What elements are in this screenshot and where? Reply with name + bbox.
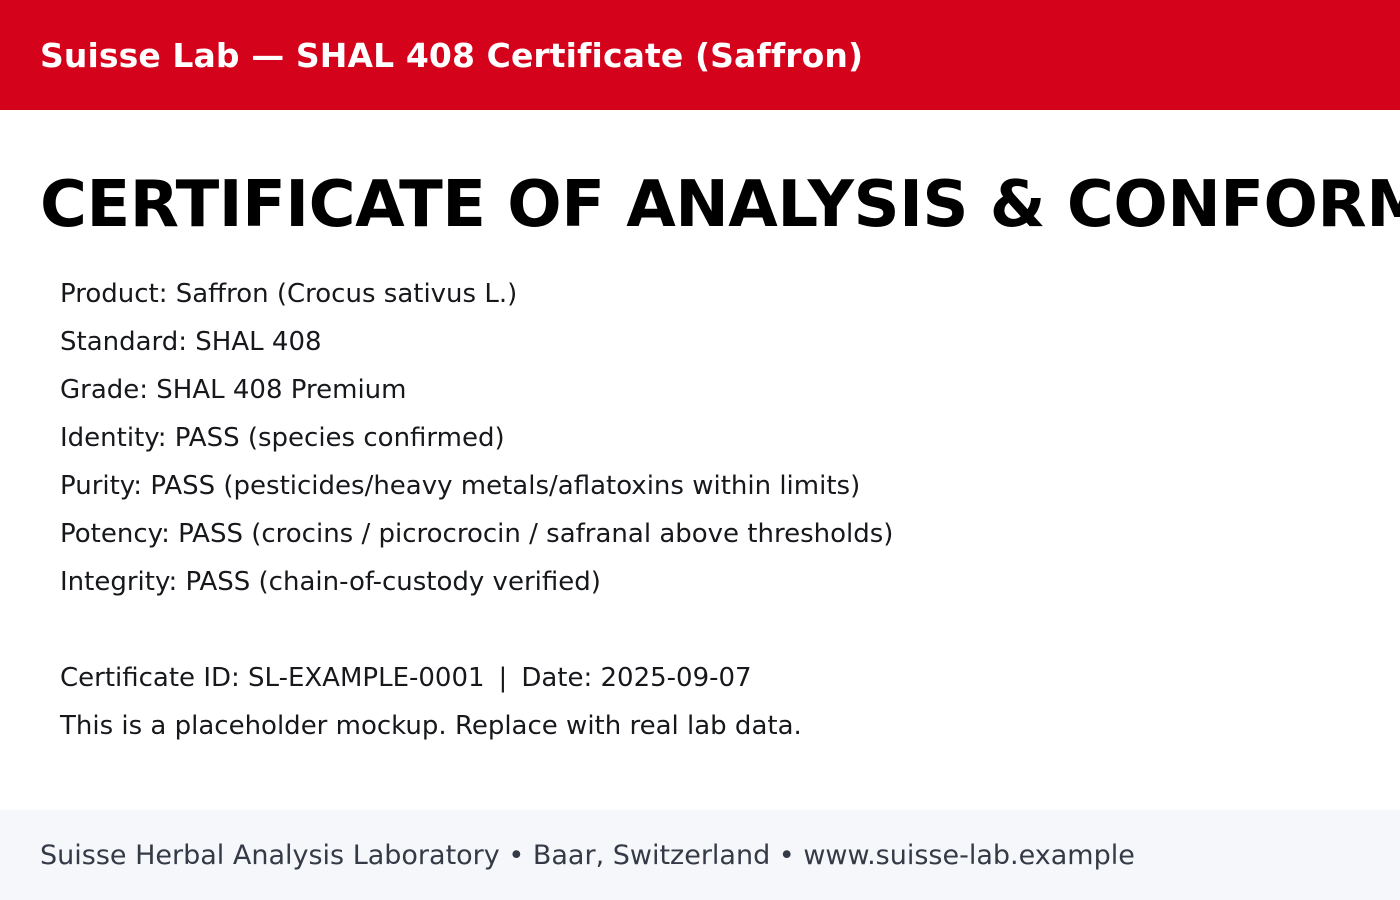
certificate-date-value: Date: 2025-09-07 bbox=[521, 663, 751, 693]
detail-line-product: Product: Saffron (Crocus sativus L.) bbox=[60, 270, 1380, 318]
detail-line-standard: Standard: SHAL 408 bbox=[60, 318, 1380, 366]
detail-line-potency: Potency: PASS (crocins / picrocrocin / s… bbox=[60, 510, 1380, 558]
certificate-detail-list: Product: Saffron (Crocus sativus L.) Sta… bbox=[60, 270, 1380, 606]
detail-line-grade: Grade: SHAL 408 Premium bbox=[60, 366, 1380, 414]
detail-line-integrity: Integrity: PASS (chain-of-custody verifi… bbox=[60, 558, 1380, 606]
certificate-id-line: Certificate ID: SL-EXAMPLE-0001|Date: 20… bbox=[60, 654, 1380, 702]
certificate-id-value: Certificate ID: SL-EXAMPLE-0001 bbox=[60, 663, 485, 693]
meta-separator: | bbox=[485, 654, 522, 702]
certificate-body: CERTIFICATE OF ANALYSIS & CONFORMITY Pro… bbox=[0, 110, 1400, 810]
app-footer: Suisse Herbal Analysis Laboratory • Baar… bbox=[0, 810, 1400, 900]
placeholder-disclaimer: This is a placeholder mockup. Replace wi… bbox=[60, 702, 1380, 750]
certificate-meta-block: Certificate ID: SL-EXAMPLE-0001|Date: 20… bbox=[60, 654, 1380, 750]
detail-line-identity: Identity: PASS (species confirmed) bbox=[60, 414, 1380, 462]
footer-text: Suisse Herbal Analysis Laboratory • Baar… bbox=[40, 840, 1135, 871]
detail-line-purity: Purity: PASS (pesticides/heavy metals/af… bbox=[60, 462, 1380, 510]
page-title: CERTIFICATE OF ANALYSIS & CONFORMITY bbox=[40, 172, 1400, 239]
app-header: Suisse Lab — SHAL 408 Certificate (Saffr… bbox=[0, 0, 1400, 110]
header-title: Suisse Lab — SHAL 408 Certificate (Saffr… bbox=[40, 36, 863, 75]
